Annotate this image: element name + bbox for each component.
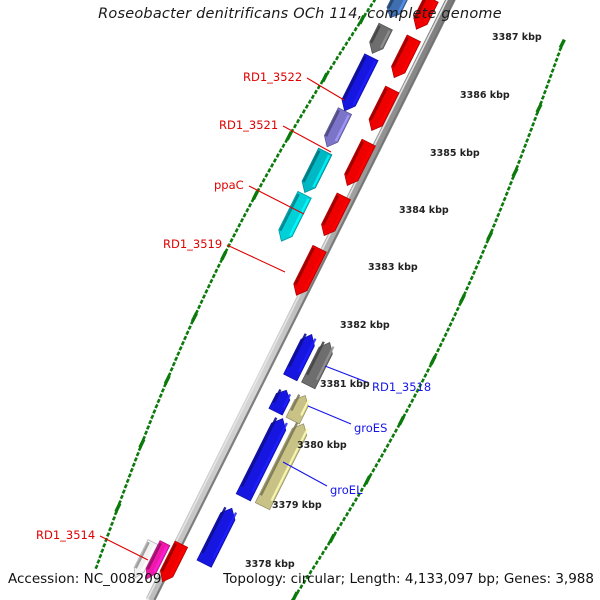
tick-label: 3378 kbp (245, 559, 295, 570)
gene-arrow[interactable] (366, 23, 393, 57)
label-leader-lines (100, 78, 369, 560)
gene-body (298, 148, 332, 196)
gene-arrow[interactable] (320, 108, 351, 150)
tick-label: 3380 kbp (297, 440, 347, 451)
tick-label: 3382 kbp (340, 320, 390, 331)
leader-line (283, 462, 327, 486)
leader-line (227, 245, 285, 272)
genes-layer (130, 0, 438, 585)
gene-label-rd1_3521[interactable]: RD1_3521 (219, 118, 278, 132)
tick-label: 3381 kbp (320, 379, 370, 390)
gene-arrow[interactable] (197, 505, 239, 568)
gene-label-groes[interactable]: groES (354, 421, 387, 435)
accession-text: Accession: NC_008209 (8, 571, 161, 587)
gene-arrow[interactable] (275, 191, 312, 244)
gene-label-rd1_3522[interactable]: RD1_3522 (243, 70, 302, 84)
leader-line (283, 126, 331, 152)
gene-arrow[interactable] (338, 54, 378, 114)
leader-line (308, 406, 351, 424)
tick-label: 3383 kbp (368, 262, 418, 273)
gene-body (197, 505, 239, 568)
gene-body (275, 191, 312, 244)
gene-label-rd1_3518[interactable]: RD1_3518 (372, 380, 431, 394)
tick-label: 3384 kbp (399, 205, 449, 216)
genome-map-viewer: Roseobacter denitrificans OCh 114, compl… (0, 0, 600, 600)
gene-label-rd1_3514[interactable]: RD1_3514 (36, 528, 95, 542)
tick-label: 3386 kbp (460, 90, 510, 101)
scale-ticks-inner (260, 40, 565, 600)
gene-body (338, 54, 378, 114)
leader-line (100, 536, 148, 560)
gene-label-ppac[interactable]: ppaC (214, 178, 244, 192)
tick-label: 3387 kbp (492, 32, 542, 43)
gene-label-groel[interactable]: groEL (330, 483, 362, 497)
tick-label: 3379 kbp (272, 500, 322, 511)
gene-label-rd1_3519[interactable]: RD1_3519 (163, 237, 222, 251)
gene-arrow[interactable] (298, 148, 332, 196)
tick-label: 3385 kbp (430, 148, 480, 159)
genome-summary-text: Topology: circular; Length: 4,133,097 bp… (223, 571, 594, 587)
page-title: Roseobacter denitrificans OCh 114, compl… (0, 6, 600, 22)
